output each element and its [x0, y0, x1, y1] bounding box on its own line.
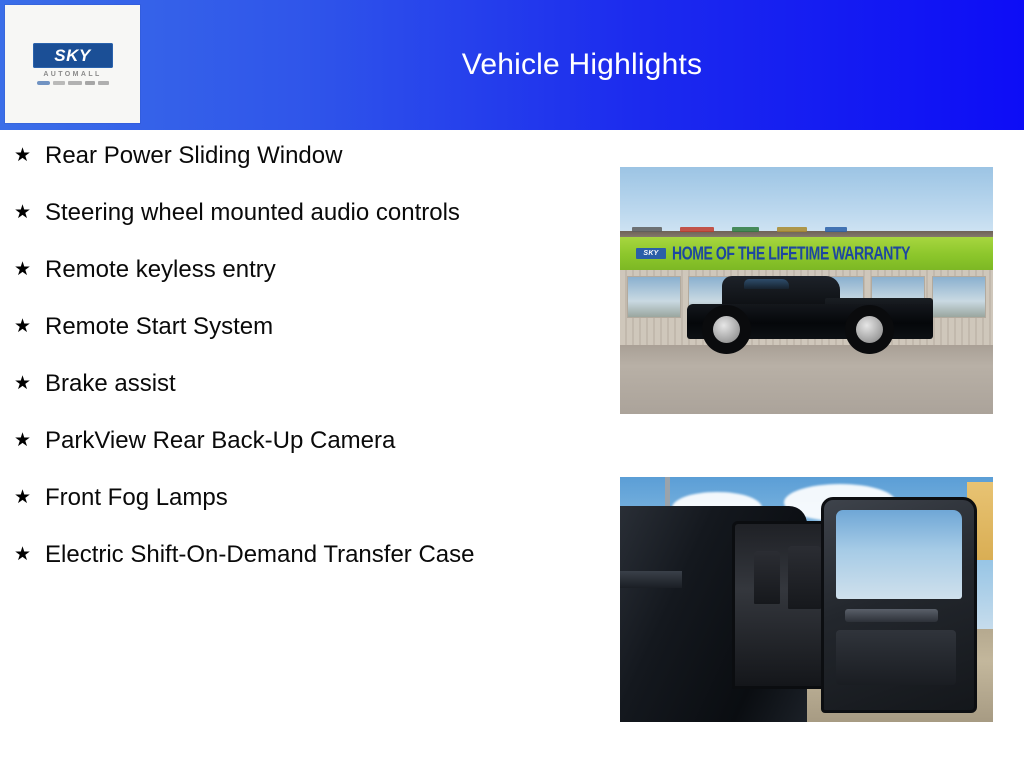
list-item-label: Remote keyless entry	[45, 254, 276, 286]
dealer-logo: SKY AUTOMALL	[5, 5, 140, 123]
page-title: Vehicle Highlights	[140, 0, 1024, 130]
list-item-label: Remote Start System	[45, 311, 273, 343]
open-rear-door	[821, 497, 976, 714]
banner-sky-badge: SKY	[636, 248, 666, 259]
list-item: ★ Rear Power Sliding Window	[0, 140, 600, 172]
lifetime-warranty-banner: SKY HOME OF THE LIFETIME WARRANTY	[620, 237, 993, 269]
exterior-side-profile-photo: SKY HOME OF THE LIFETIME WARRANTY	[620, 167, 993, 414]
list-item-label: Brake assist	[45, 368, 176, 400]
sky-logo-text: SKY	[54, 47, 90, 64]
rear-door-open-interior-photo	[620, 477, 993, 722]
list-item: ★ Front Fog Lamps	[0, 482, 600, 514]
star-bullet-icon: ★	[14, 140, 45, 172]
list-item: ★ Remote Start System	[0, 311, 600, 343]
truck-window-glass	[744, 279, 789, 289]
star-bullet-icon: ★	[14, 368, 45, 400]
star-bullet-icon: ★	[14, 482, 45, 514]
oem-brand-strip-icon	[37, 81, 109, 85]
door-armrest-handle	[845, 609, 937, 622]
list-item: ★ Steering wheel mounted audio controls	[0, 197, 600, 229]
list-item: ★ Electric Shift-On-Demand Transfer Case	[0, 539, 600, 571]
list-item: ★ ParkView Rear Back-Up Camera	[0, 425, 600, 457]
list-item: ★ Brake assist	[0, 368, 600, 400]
list-item-label: Front Fog Lamps	[45, 482, 228, 514]
list-item: ★ Remote keyless entry	[0, 254, 600, 286]
rear-wheel	[845, 305, 894, 354]
door-interior-panel	[836, 630, 955, 685]
list-item-label: ParkView Rear Back-Up Camera	[45, 425, 395, 457]
banner-text: HOME OF THE LIFETIME WARRANTY	[672, 243, 910, 265]
star-bullet-icon: ★	[14, 197, 45, 229]
front-seat-back	[788, 546, 822, 610]
list-item-label: Rear Power Sliding Window	[45, 140, 342, 172]
automall-logo-text: AUTOMALL	[43, 71, 101, 78]
page-header: SKY AUTOMALL Vehicle Highlights	[0, 0, 1024, 130]
rear-seat-headrest	[754, 551, 780, 605]
list-item-label: Steering wheel mounted audio controls	[45, 197, 460, 229]
truck-bed-rail	[620, 571, 682, 588]
parking-lot-ground	[620, 345, 993, 414]
building-brand-signs-icon	[632, 223, 953, 238]
star-bullet-icon: ★	[14, 539, 45, 571]
star-bullet-icon: ★	[14, 425, 45, 457]
star-bullet-icon: ★	[14, 311, 45, 343]
list-item-label: Electric Shift-On-Demand Transfer Case	[45, 539, 474, 571]
star-bullet-icon: ★	[14, 254, 45, 286]
sky-logo-badge: SKY	[33, 43, 113, 68]
front-wheel	[702, 305, 751, 354]
door-window-glass	[836, 510, 961, 598]
black-pickup-truck	[687, 276, 933, 350]
vehicle-highlights-list: ★ Rear Power Sliding Window ★ Steering w…	[0, 140, 600, 596]
